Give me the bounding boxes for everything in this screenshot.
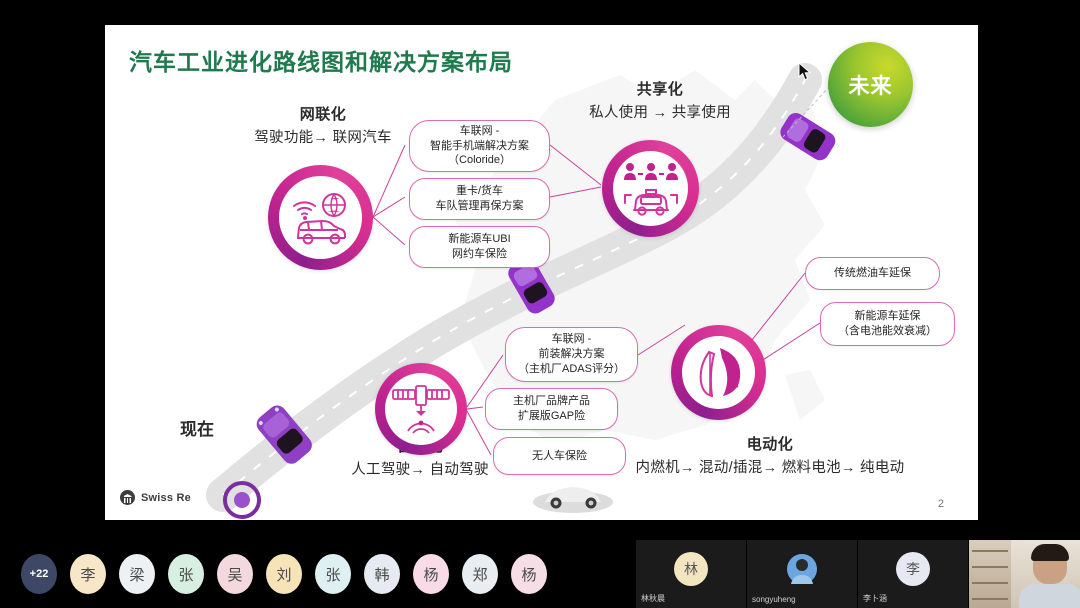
group-smart-subtitle: 人工驾驶→ 自动驾驶 xyxy=(320,458,520,479)
swiss-re-mark-icon xyxy=(120,490,135,505)
globe-icon xyxy=(323,194,345,216)
background-shelf xyxy=(969,540,1011,608)
video-tile[interactable]: songyuheng xyxy=(747,540,857,608)
now-label: 现在 xyxy=(180,415,214,440)
screen-share-window: 汽车工业进化路线图和解决方案布局 未来 现在 网联化 驾驶功能→ 联网汽车 共享… xyxy=(0,0,1080,608)
avatar: 李 xyxy=(896,552,930,586)
avatar[interactable]: 刘 xyxy=(266,554,302,594)
participant-name: 李卜涵 xyxy=(863,593,887,604)
avatar[interactable]: 杨 xyxy=(511,554,547,594)
leaf-eco-icon xyxy=(690,344,748,402)
participant-name: songyuheng xyxy=(752,595,796,604)
person-photo-icon xyxy=(787,554,817,584)
callout-line: 车联网 - xyxy=(514,332,629,347)
page-number: 2 xyxy=(938,498,944,510)
taxi-icon xyxy=(625,190,677,215)
callout-line: 无人车保险 xyxy=(502,449,617,464)
callout-ice-extended-warranty[interactable]: 传统燃油车延保 xyxy=(805,257,940,290)
avatar: 林 xyxy=(674,552,708,586)
participant-name: 林秋晨 xyxy=(641,593,665,604)
callout-line: （主机厂ADAS评分） xyxy=(514,362,629,377)
callout-line: 车联网 - xyxy=(418,124,541,139)
avatar[interactable]: 李 xyxy=(70,554,106,594)
avatar xyxy=(785,552,819,586)
group-shared: 共享化 私人使用 → 共享使用 xyxy=(560,78,760,122)
video-tile[interactable]: 李 李卜涵 xyxy=(858,540,968,608)
callout-line: 重卡/货车 xyxy=(418,184,541,199)
callout-line: 车队管理再保方案 xyxy=(418,199,541,214)
icon-disc-electric xyxy=(671,325,766,420)
car-icon xyxy=(297,221,345,243)
avatar[interactable]: 张 xyxy=(168,554,204,594)
car-silver xyxy=(533,487,613,513)
people-group-icon xyxy=(624,163,678,180)
icon-disc-connected xyxy=(268,165,373,270)
person-body xyxy=(1019,584,1080,608)
avatar[interactable]: 郑 xyxy=(462,554,498,594)
callout-line: 新能源车UBI xyxy=(418,232,541,247)
icon-disc-smart xyxy=(375,363,467,455)
callout-line: 新能源车延保 xyxy=(829,309,946,324)
group-connected-title: 网联化 xyxy=(233,103,413,124)
group-connected: 网联化 驾驶功能→ 联网汽车 xyxy=(233,103,413,147)
callout-nev-ubi[interactable]: 新能源车UBI 网约车保险 xyxy=(409,226,550,268)
callout-coloride[interactable]: 车联网 - 智能手机端解决方案 （Coloride） xyxy=(409,120,550,172)
group-electric-subtitle: 内燃机→ 混动/插混→ 燃料电池→ 纯电动 xyxy=(605,456,935,477)
person-hair xyxy=(1031,544,1069,561)
satellite-icon xyxy=(390,382,452,436)
disc-inner xyxy=(385,373,457,445)
group-shared-subtitle: 私人使用 → 共享使用 xyxy=(560,101,760,122)
callout-line: 网约车保险 xyxy=(418,247,541,262)
callout-line: 扩展版GAP险 xyxy=(494,409,609,424)
group-shared-title: 共享化 xyxy=(560,78,760,99)
future-label: 未来 xyxy=(849,70,893,100)
avatar[interactable]: 梁 xyxy=(119,554,155,594)
avatar[interactable]: 杨 xyxy=(413,554,449,594)
callout-line: 传统燃油车延保 xyxy=(814,266,931,281)
slide-title: 汽车工业进化路线图和解决方案布局 xyxy=(129,43,513,77)
video-tile-active-speaker[interactable] xyxy=(969,540,1080,608)
swiss-re-wordmark: Swiss Re xyxy=(141,492,191,504)
icon-disc-shared xyxy=(602,140,699,237)
mouse-cursor-icon xyxy=(798,62,812,82)
video-tile[interactable]: 林 林秋晨 xyxy=(636,540,746,608)
callout-line: 前装解决方案 xyxy=(514,347,629,362)
swiss-re-logo: Swiss Re xyxy=(120,490,191,505)
avatar-list: +22 李 梁 张 吴 刘 张 韩 杨 郑 杨 xyxy=(0,540,636,608)
callout-line: （Coloride） xyxy=(418,153,541,168)
callout-nev-extended-warranty[interactable]: 新能源车延保 （含电池能效衰减） xyxy=(820,302,955,346)
avatar[interactable]: 张 xyxy=(315,554,351,594)
avatar[interactable]: 韩 xyxy=(364,554,400,594)
presentation-slide: 汽车工业进化路线图和解决方案布局 未来 现在 网联化 驾驶功能→ 联网汽车 共享… xyxy=(105,25,978,520)
avatar[interactable]: 吴 xyxy=(217,554,253,594)
group-connected-subtitle: 驾驶功能→ 联网汽车 xyxy=(233,126,413,147)
disc-inner xyxy=(279,176,362,259)
disc-inner xyxy=(613,151,688,226)
callout-gap-insurance[interactable]: 主机厂品牌产品 扩展版GAP险 xyxy=(485,388,618,430)
callout-truck-fleet[interactable]: 重卡/货车 车队管理再保方案 xyxy=(409,178,550,220)
callout-adas[interactable]: 车联网 - 前装解决方案 （主机厂ADAS评分） xyxy=(505,327,638,382)
callout-line: 主机厂品牌产品 xyxy=(494,394,609,409)
participants-strip: +22 李 梁 张 吴 刘 张 韩 杨 郑 杨 林 林秋晨 songyu xyxy=(0,540,1080,608)
callout-autonomous-insurance[interactable]: 无人车保险 xyxy=(493,437,626,475)
group-electric: 电动化 内燃机→ 混动/插混→ 燃料电池→ 纯电动 xyxy=(605,433,935,477)
group-electric-title: 电动化 xyxy=(605,433,935,454)
callout-line: （含电池能效衰减） xyxy=(829,324,946,339)
callout-line: 智能手机端解决方案 xyxy=(418,139,541,154)
overflow-participants-badge[interactable]: +22 xyxy=(21,554,57,594)
future-marker: 未来 xyxy=(828,42,913,127)
disc-inner xyxy=(682,336,755,409)
shared-taxi-icon xyxy=(621,161,681,217)
wifi-globe-car-icon xyxy=(290,189,352,247)
